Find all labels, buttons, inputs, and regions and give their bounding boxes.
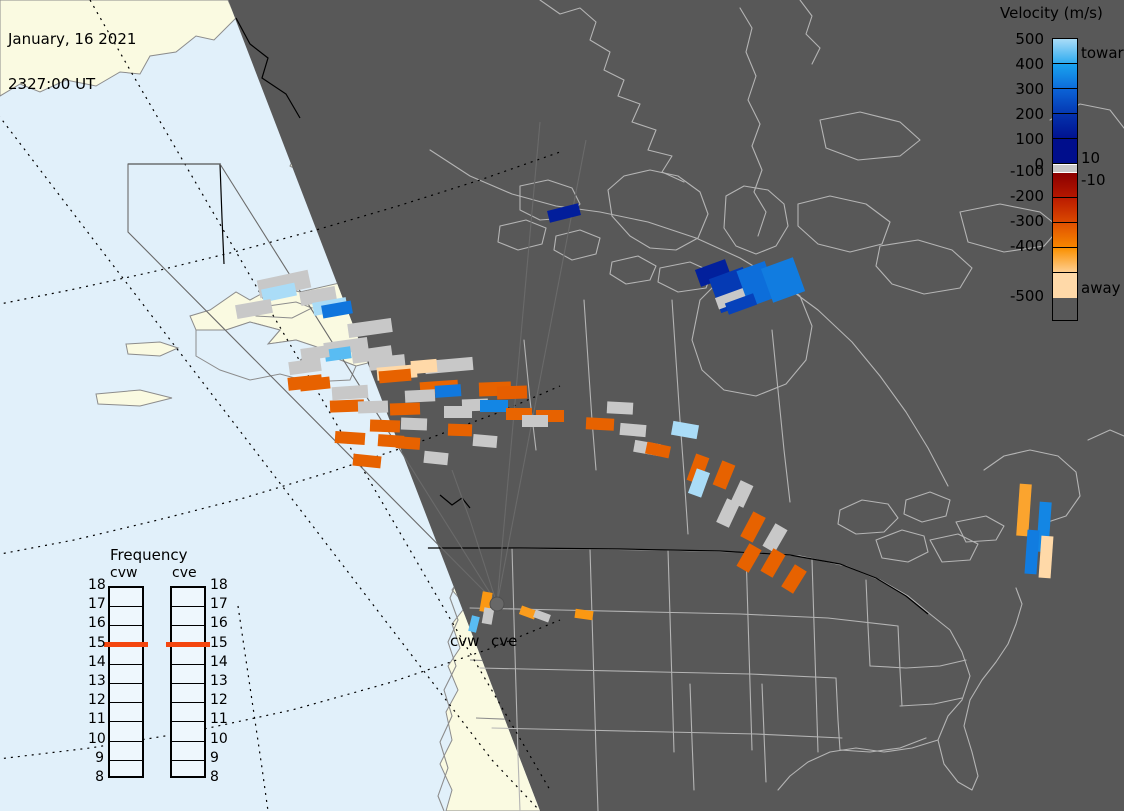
frequency-title: Frequency xyxy=(110,546,188,564)
colorbar-segment-toward-4 xyxy=(1053,139,1077,164)
station-label-cvw[interactable]: cvw xyxy=(450,632,479,650)
station-label-cve[interactable]: cve xyxy=(491,632,517,650)
frequency-cell xyxy=(110,684,142,703)
frequency-cell xyxy=(172,761,204,780)
frequency-tick-left-11: 11 xyxy=(88,711,104,727)
frequency-tick-left-12: 12 xyxy=(88,692,104,708)
frequency-cell xyxy=(172,684,204,703)
velocity-cell xyxy=(370,419,400,432)
frequency-cell xyxy=(172,607,204,626)
frequency-tick-right-16: 16 xyxy=(210,615,228,631)
frequency-tick-right-8: 8 xyxy=(210,769,219,785)
frequency-cell xyxy=(172,588,204,607)
colorbar-negative-threshold-label: -10 xyxy=(1081,171,1106,189)
colorbar-segment-away-0 xyxy=(1053,173,1077,198)
date-label: January, 16 2021 xyxy=(8,32,136,47)
velocity-cell xyxy=(396,436,421,450)
colorbar-segment-toward-0 xyxy=(1053,39,1077,64)
colorbar-tick-500: 500 xyxy=(1015,30,1044,48)
frequency-tick-left-13: 13 xyxy=(88,673,104,689)
frequency-cell xyxy=(110,588,142,607)
frequency-tick-left-10: 10 xyxy=(88,731,104,747)
colorbar-segment-toward-1 xyxy=(1053,64,1077,89)
colorbar-away-label: away xyxy=(1081,279,1121,297)
colorbar-tick--500: -500 xyxy=(1010,287,1044,305)
no-data-cell xyxy=(358,400,388,413)
frequency-cell xyxy=(110,646,142,665)
colorbar-segment-away-4 xyxy=(1053,273,1077,298)
velocity-cell xyxy=(435,384,462,398)
frequency-cell xyxy=(172,722,204,741)
colorbar-tick--300: -300 xyxy=(1010,212,1044,230)
frequency-tick-left-9: 9 xyxy=(88,750,104,766)
no-data-cell xyxy=(423,451,448,465)
frequency-cell xyxy=(172,646,204,665)
no-data-cell xyxy=(473,434,498,448)
frequency-tick-right-9: 9 xyxy=(210,750,219,766)
frequency-tick-left-8: 8 xyxy=(88,769,104,785)
no-data-cell xyxy=(405,389,436,403)
frequency-tick-right-14: 14 xyxy=(210,654,228,670)
frequency-cell xyxy=(110,607,142,626)
colorbar-tick--200: -200 xyxy=(1010,187,1044,205)
frequency-tick-right-15: 15 xyxy=(210,635,228,651)
frequency-tick-right-10: 10 xyxy=(210,731,228,747)
frequency-bar-cvw[interactable] xyxy=(108,586,144,778)
colorbar-tick--100: -100 xyxy=(1010,162,1044,180)
frequency-cell xyxy=(110,761,142,780)
velocity-cell xyxy=(586,417,615,430)
frequency-cell xyxy=(172,742,204,761)
velocity-cell xyxy=(480,400,508,412)
frequency-bar-cve[interactable] xyxy=(170,586,206,778)
frequency-cell xyxy=(110,742,142,761)
colorbar-tick-400: 400 xyxy=(1015,55,1044,73)
timestamp-block: January, 16 2021 2327:00 UT xyxy=(8,2,136,122)
colorbar-segment-toward-3 xyxy=(1053,114,1077,139)
frequency-tick-right-12: 12 xyxy=(210,692,228,708)
frequency-cell xyxy=(110,665,142,684)
colorbar-segment-toward-2 xyxy=(1053,89,1077,114)
frequency-tick-right-17: 17 xyxy=(210,596,228,612)
colorbar-tick-100: 100 xyxy=(1015,130,1044,148)
no-data-cell xyxy=(522,415,548,427)
no-data-cell xyxy=(620,423,647,437)
radar-map-screenshot: January, 16 2021 2327:00 UT Velocity (m/… xyxy=(0,0,1124,811)
colorbar-strip[interactable] xyxy=(1052,38,1078,321)
frequency-cell xyxy=(110,703,142,722)
frequency-tick-right-13: 13 xyxy=(210,673,228,689)
colorbar-tick-300: 300 xyxy=(1015,80,1044,98)
frequency-marker-cvw xyxy=(104,642,148,647)
frequency-tick-left-15: 15 xyxy=(88,635,104,651)
velocity-cell xyxy=(448,424,472,437)
frequency-cell xyxy=(110,722,142,741)
colorbar-segment-away-1 xyxy=(1053,198,1077,223)
velocity-cell xyxy=(335,431,366,445)
colorbar-segment-away-2 xyxy=(1053,223,1077,248)
frequency-tick-right-18: 18 xyxy=(210,577,228,593)
no-data-cell xyxy=(444,406,472,418)
velocity-cell xyxy=(410,359,437,374)
velocity-cell xyxy=(390,402,420,415)
no-data-cell xyxy=(401,418,427,431)
frequency-marker-cve xyxy=(166,642,210,647)
colorbar-toward-label: toward xyxy=(1081,44,1124,62)
no-data-cell xyxy=(607,401,634,414)
frequency-tick-left-16: 16 xyxy=(88,615,104,631)
frequency-tick-left-17: 17 xyxy=(88,596,104,612)
velocity-colorbar-panel: Velocity (m/s) 5004003002001000-100-200-… xyxy=(982,0,1124,340)
colorbar-positive-threshold-label: 10 xyxy=(1081,149,1100,167)
colorbar-tick--400: -400 xyxy=(1010,237,1044,255)
frequency-cell xyxy=(172,703,204,722)
colorbar-segment-zero xyxy=(1053,164,1077,173)
colorbar-title: Velocity (m/s) xyxy=(1000,4,1103,22)
frequency-tick-left-18: 18 xyxy=(88,577,104,593)
frequency-column-label-cve: cve xyxy=(172,565,197,581)
frequency-legend-panel: Frequency cvwcve181817171616151514141313… xyxy=(88,546,238,786)
velocity-cell xyxy=(497,385,527,399)
radar-station-marker[interactable] xyxy=(490,597,504,611)
frequency-tick-right-11: 11 xyxy=(210,711,228,727)
colorbar-segment-away-3 xyxy=(1053,248,1077,273)
frequency-cell xyxy=(172,665,204,684)
frequency-tick-left-14: 14 xyxy=(88,654,104,670)
colorbar-tick-200: 200 xyxy=(1015,105,1044,123)
frequency-column-label-cvw: cvw xyxy=(110,565,137,581)
time-label: 2327:00 UT xyxy=(8,77,136,92)
no-data-cell xyxy=(332,385,369,400)
